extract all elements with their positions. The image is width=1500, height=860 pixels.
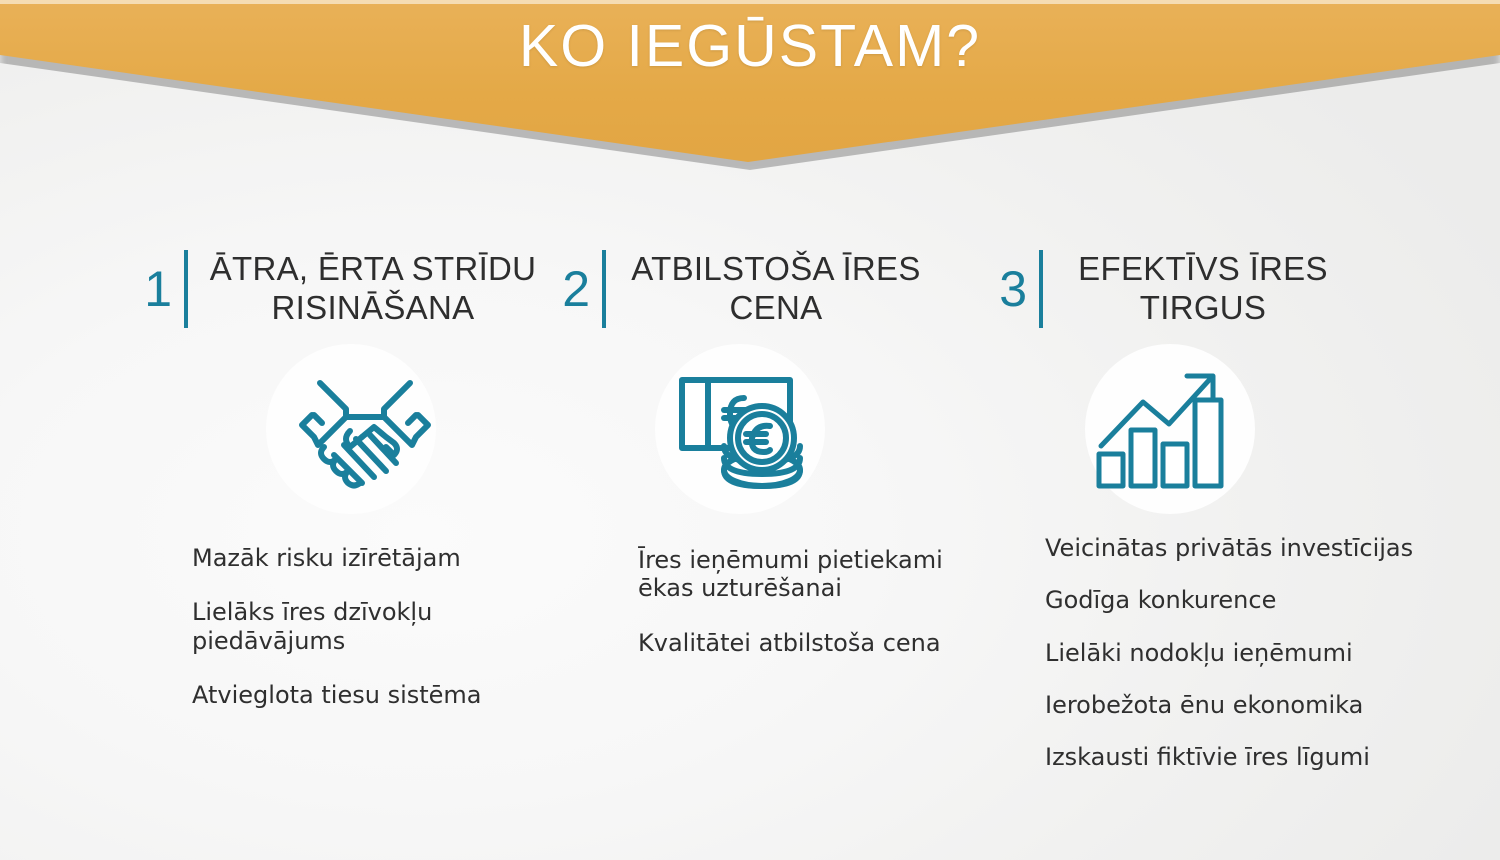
column-3: 3 EFEKTĪVS ĪRES TIRGUS Veicinātas privāt… bbox=[985, 250, 1405, 796]
column-1-number: 1 bbox=[130, 250, 172, 314]
column-3-title: EFEKTĪVS ĪRES TIRGUS bbox=[1043, 250, 1405, 328]
column-1-bullets: Mazāk risku izīrētājam Lielāks īres dzīv… bbox=[130, 544, 532, 709]
list-item: Veicinātas privātās investīcijas bbox=[1045, 534, 1415, 562]
list-item: Godīga konkurence bbox=[1045, 586, 1415, 614]
column-3-bullets: Veicinātas privātās investīcijas Godīga … bbox=[985, 534, 1415, 772]
banner-top-highlight bbox=[0, 0, 1500, 4]
growth-chart-icon bbox=[1085, 366, 1235, 496]
column-1-icon-area bbox=[130, 336, 550, 526]
column-2-icon-area bbox=[548, 336, 968, 526]
column-2-title: ATBILSTOŠA ĪRES CENA bbox=[606, 250, 968, 328]
euro-money-icon bbox=[668, 366, 818, 496]
column-2-header: 2 ATBILSTOŠA ĪRES CENA bbox=[548, 250, 968, 336]
list-item: Lielāki nodokļu ieņēmumi bbox=[1045, 639, 1415, 667]
list-item: Mazāk risku izīrētājam bbox=[192, 544, 532, 572]
column-3-number: 3 bbox=[985, 250, 1027, 314]
list-item: Kvalitātei atbilstoša cena bbox=[638, 629, 988, 657]
handshake-icon bbox=[290, 371, 440, 491]
title-banner: KO IEGŪSTAM? bbox=[0, 0, 1500, 180]
column-2: 2 ATBILSTOŠA ĪRES CENA bbox=[548, 250, 968, 683]
list-item: Izskausti fiktīvie īres līgumi bbox=[1045, 743, 1415, 771]
column-2-bullets: Īres ieņēmumi pietiekami ēkas uzturēšana… bbox=[548, 546, 988, 657]
column-1-header: 1 ĀTRA, ĒRTA STRĪDU RISINĀŠANA bbox=[130, 250, 550, 336]
slide-canvas: KO IEGŪSTAM? 1 ĀTRA, ĒRTA STRĪDU RISINĀŠ… bbox=[0, 0, 1500, 860]
column-1: 1 ĀTRA, ĒRTA STRĪDU RISINĀŠANA bbox=[130, 250, 550, 735]
page-title: KO IEGŪSTAM? bbox=[0, 14, 1500, 79]
column-1-title: ĀTRA, ĒRTA STRĪDU RISINĀŠANA bbox=[188, 250, 550, 328]
column-2-number: 2 bbox=[548, 250, 590, 314]
list-item: Ierobežota ēnu ekonomika bbox=[1045, 691, 1415, 719]
column-3-header: 3 EFEKTĪVS ĪRES TIRGUS bbox=[985, 250, 1405, 336]
list-item: Atvieglota tiesu sistēma bbox=[192, 681, 532, 709]
list-item: Lielāks īres dzīvokļu piedāvājums bbox=[192, 598, 532, 655]
column-3-icon-area bbox=[985, 336, 1405, 526]
list-item: Īres ieņēmumi pietiekami ēkas uzturēšana… bbox=[638, 546, 988, 603]
